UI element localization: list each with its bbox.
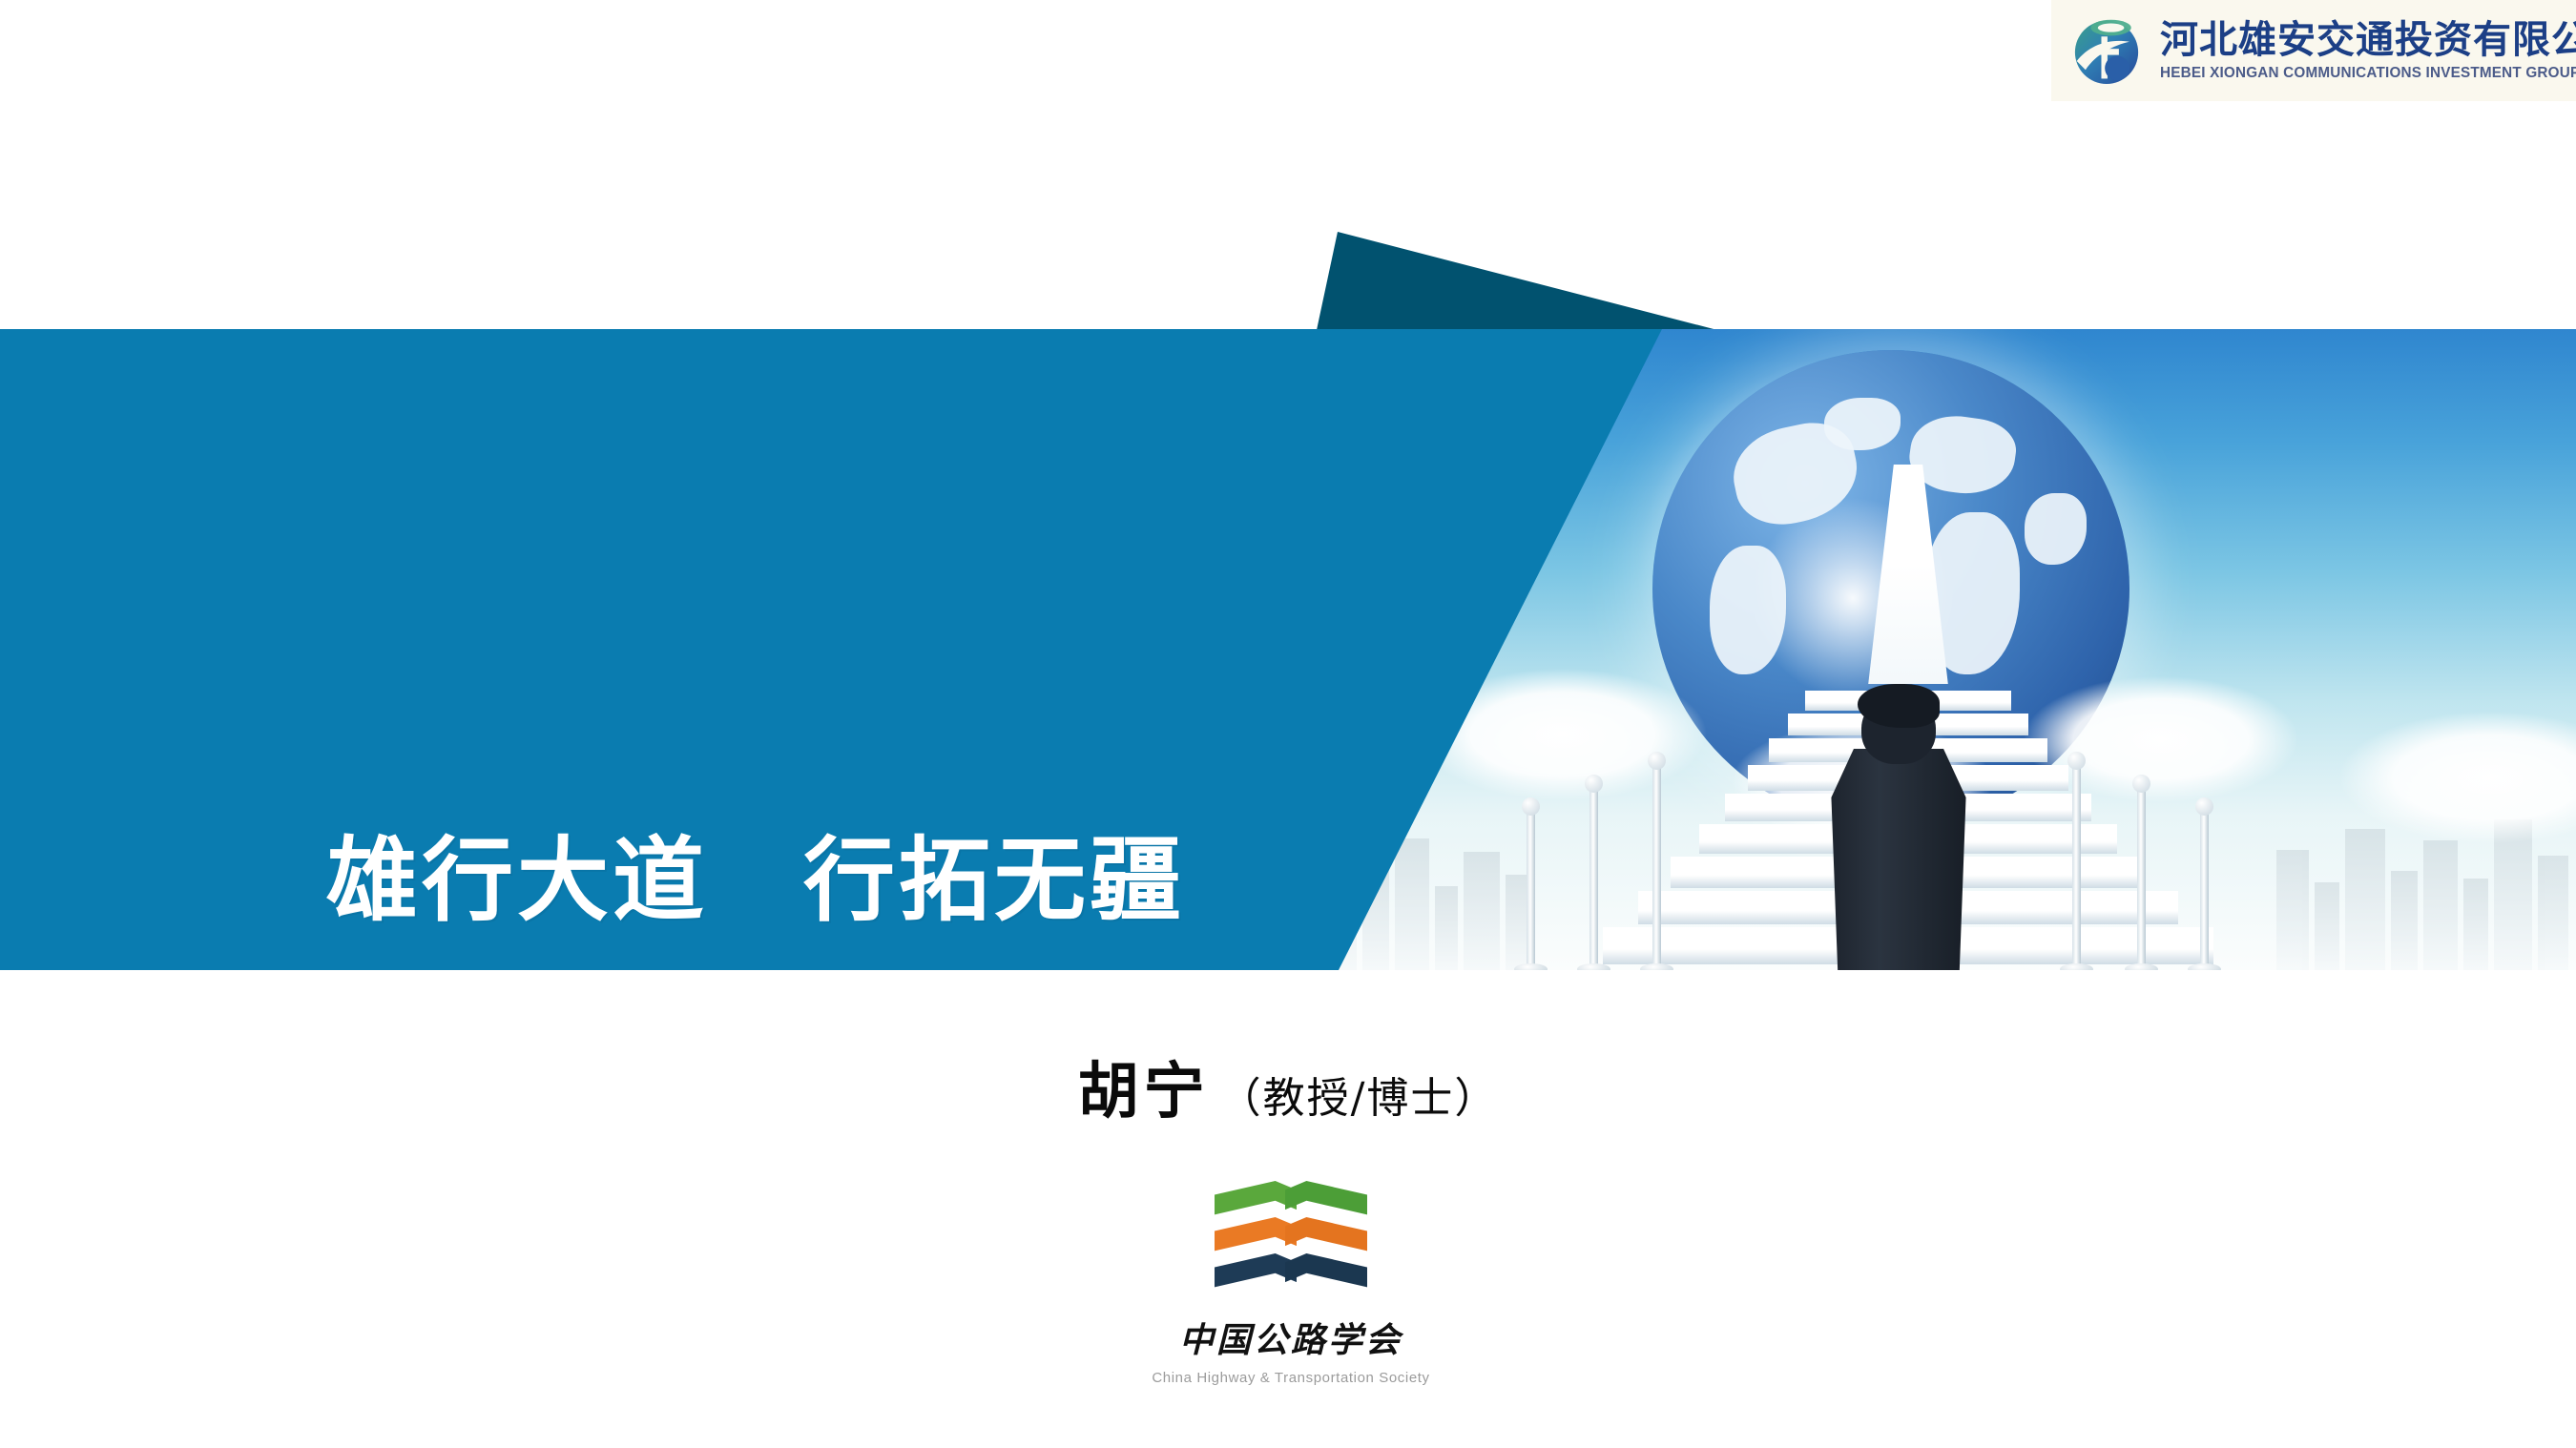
company-name-en: HEBEI XIONGAN COMMUNICATIONS INVESTMENT … [2160,65,2576,82]
company-emblem-icon [2063,7,2150,94]
company-name-cn: 河北雄安交通投资有限公司 [2160,20,2576,60]
speaker-name: 胡宁 [1078,1056,1210,1127]
speaker-credentials: （教授/博士） [1219,1074,1499,1123]
slide-title: 雄行大道 行拓无疆 [326,829,1185,934]
society-logo: 中国公路学会 China Highway & Transportation So… [1133,1175,1448,1386]
society-name-cn: 中国公路学会 [1133,1313,1448,1362]
hero-banner: 雄行大道 行拓无疆 ——雄安交投企业文化品牌解读与落地实施 [0,329,2576,970]
accent-triangle [1317,232,1717,330]
presentation-title-slide: 河北雄安交通投资有限公司 HEBEI XIONGAN COMMUNICATION… [0,0,2576,1448]
hexagon-cube-logo-icon [1205,1175,1377,1309]
businessman-silhouette [1808,693,1989,970]
corporate-logo: 河北雄安交通投资有限公司 HEBEI XIONGAN COMMUNICATION… [2051,0,2576,101]
speaker-line: 胡宁（教授/博士） [0,1043,2576,1130]
society-name-en: China Highway & Transportation Society [1133,1370,1448,1386]
